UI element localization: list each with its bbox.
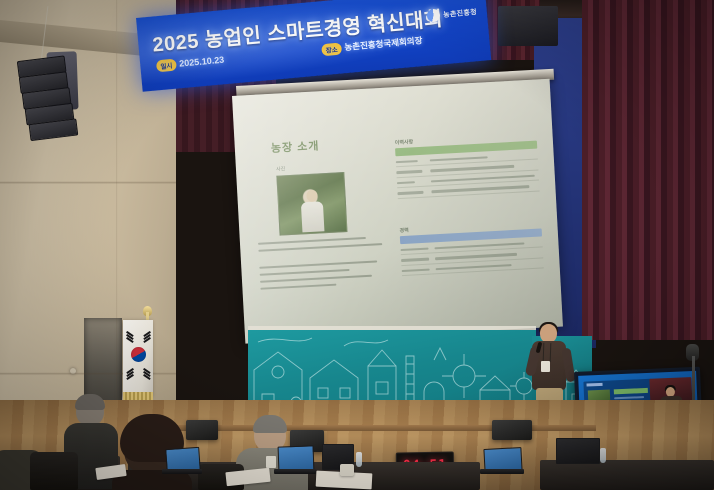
line-array-speaker bbox=[17, 55, 75, 148]
slide-farmer-photo bbox=[276, 172, 347, 236]
attendee-badge bbox=[266, 456, 276, 468]
wall-fixture bbox=[70, 368, 76, 374]
presentation-slide: 농장 소개 사진 이력사항 bbox=[243, 127, 554, 309]
monitor-slide-table-header bbox=[614, 388, 648, 394]
slide-table-career: 경력 bbox=[399, 219, 544, 277]
audience-table bbox=[540, 460, 714, 490]
presenter-lanyard bbox=[543, 343, 552, 362]
photo-person-body bbox=[301, 201, 325, 232]
slide-photo-label: 사진 bbox=[276, 165, 286, 172]
korean-flag bbox=[123, 320, 153, 396]
water-bottle bbox=[356, 452, 362, 467]
chair bbox=[30, 452, 78, 490]
slide-title: 농장 소개 bbox=[270, 137, 319, 156]
presenter-name-badge bbox=[541, 361, 550, 372]
laptop-screen[interactable] bbox=[556, 438, 600, 464]
banner-date: 일시2025.10.23 bbox=[156, 54, 225, 72]
slide-caption-line bbox=[260, 269, 350, 276]
attendee-hair bbox=[75, 394, 105, 410]
laptop-base bbox=[480, 469, 524, 474]
conference-hall-photo: 2025 농업인 스마트경영 혁신대회 일시2025.10.23 장소농촌진흥청… bbox=[0, 0, 714, 490]
monitor-slide-title bbox=[586, 383, 602, 387]
water-bottle bbox=[600, 448, 606, 463]
banner-date-text: 2025.10.23 bbox=[179, 55, 225, 69]
slide-caption-line bbox=[259, 260, 377, 269]
paper-cup bbox=[340, 464, 354, 476]
ceiling-speaker-right bbox=[498, 6, 558, 46]
curtain-red-right bbox=[582, 0, 714, 340]
laptop-base bbox=[162, 469, 202, 474]
rda-logo-icon bbox=[427, 8, 441, 22]
slide-caption-line bbox=[260, 275, 372, 283]
slide-caption-line bbox=[258, 243, 382, 252]
slide-caption-line bbox=[260, 284, 336, 290]
slide-table-history: 이력사항 bbox=[395, 132, 540, 201]
projection-screen: 농장 소개 사진 이력사항 bbox=[232, 79, 563, 344]
attendee-hair bbox=[253, 415, 287, 433]
laptop-base bbox=[274, 469, 316, 474]
stage-monitor-wedge bbox=[492, 420, 532, 440]
taeguk-symbol bbox=[131, 347, 146, 362]
banner-venue-pill: 장소 bbox=[321, 42, 342, 56]
banner-date-pill: 일시 bbox=[156, 59, 177, 73]
banner-logo-text: 농촌진흥청 bbox=[443, 7, 477, 20]
photo-person-head bbox=[306, 190, 318, 203]
